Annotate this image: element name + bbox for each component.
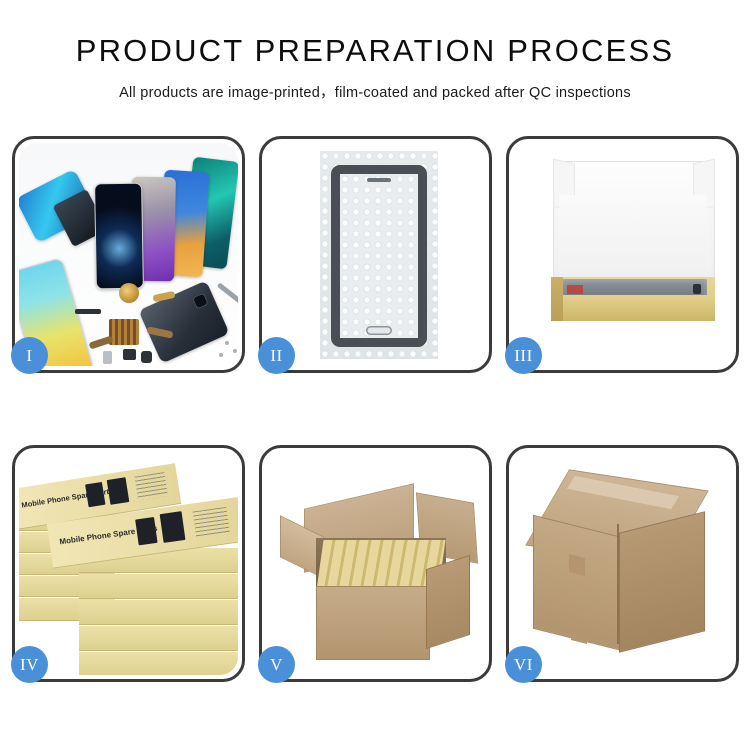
step-badge-4: IV xyxy=(11,646,48,683)
wrapped-screen-glass xyxy=(331,165,427,347)
step-5-image xyxy=(266,452,485,675)
bubble-wrap-sheet xyxy=(320,151,438,359)
part-flex-cable-a xyxy=(89,335,114,349)
box-lid-phone-graphic xyxy=(135,517,157,545)
step-badge-6: VI xyxy=(505,646,542,683)
box-lid-phone-graphic xyxy=(160,511,186,543)
step-panel-4: Mobile Phone Spare Parts Mobile Phone Sp… xyxy=(12,445,245,682)
stacked-box xyxy=(79,652,238,675)
step-panel-5: V xyxy=(259,445,492,682)
part-connector-bar xyxy=(75,309,101,314)
part-vibrator-motor xyxy=(141,351,152,363)
step-badge-1: I xyxy=(11,337,48,374)
carton-tab-upper xyxy=(569,554,585,576)
stacked-box xyxy=(79,600,238,624)
step-badge-2: II xyxy=(258,337,295,374)
box-lid-phone-graphic xyxy=(107,477,130,505)
carton-front-wall xyxy=(316,586,430,660)
step-4-image: Mobile Phone Spare Parts Mobile Phone Sp… xyxy=(19,452,238,675)
page-subtitle: All products are image-printed，film-coat… xyxy=(0,81,750,102)
camera-module-icon xyxy=(192,292,209,309)
part-component-square xyxy=(123,349,136,360)
kraft-box-left-edge xyxy=(551,277,563,321)
part-screw xyxy=(219,353,223,357)
kraft-box-stack: Mobile Phone Spare Parts Mobile Phone Sp… xyxy=(19,452,238,675)
kraft-box-front-wall xyxy=(551,295,715,321)
part-screw xyxy=(233,349,237,353)
part-screw xyxy=(225,341,229,345)
box-lid-phone-graphic xyxy=(85,482,105,507)
part-tweezers xyxy=(217,282,238,304)
page-title: PRODUCT PREPARATION PROCESS xyxy=(0,34,750,68)
home-button-icon xyxy=(366,326,392,335)
step-1-image xyxy=(19,143,238,366)
step-badge-5: V xyxy=(258,646,295,683)
box-lid-spec-lines xyxy=(193,507,230,538)
page-header: PRODUCT PREPARATION PROCESS All products… xyxy=(0,0,750,102)
step-panel-1: I xyxy=(12,136,245,373)
step-6-image xyxy=(513,452,732,675)
step-panel-3: III xyxy=(506,136,739,373)
red-label-sticker xyxy=(567,285,583,294)
stacked-box xyxy=(79,574,238,598)
part-sim-tray xyxy=(103,351,112,364)
carton-tab-lower xyxy=(571,626,587,644)
carton-side-wall xyxy=(426,555,470,649)
foam-liner xyxy=(559,195,707,279)
step-panel-2: II xyxy=(259,136,492,373)
sealed-carton-corner-seam xyxy=(617,524,619,644)
step-3-image xyxy=(513,143,732,366)
stacked-box xyxy=(79,626,238,650)
part-speaker xyxy=(119,283,139,303)
part-chip-grid xyxy=(109,319,139,345)
earpiece-slot-icon xyxy=(367,178,391,182)
process-steps-grid: I II III xyxy=(12,136,738,682)
step-panel-6: VI xyxy=(506,445,739,682)
step-2-image xyxy=(266,143,485,366)
sealed-carton-right-face xyxy=(619,511,705,652)
box-lid-spec-lines xyxy=(134,472,167,500)
screen-connector xyxy=(693,284,701,294)
step-badge-3: III xyxy=(505,337,542,374)
phone-front-glass-panel xyxy=(94,183,144,290)
phone-back-housing xyxy=(138,280,229,363)
